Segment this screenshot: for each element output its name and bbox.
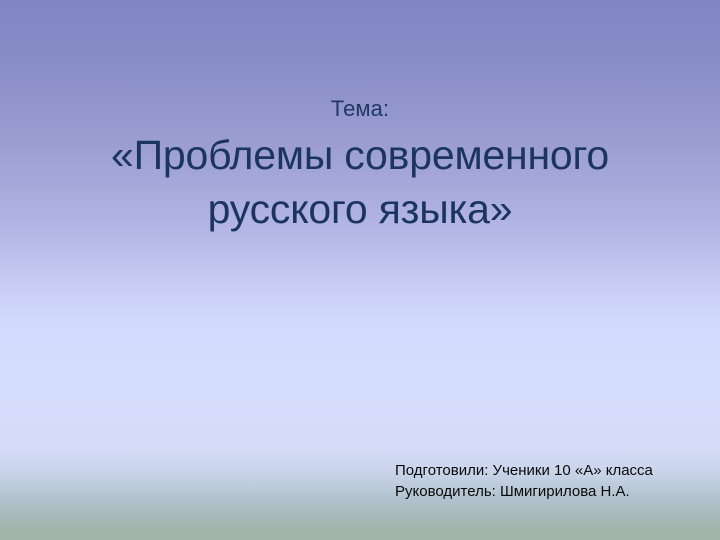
- credits-block: Подготовили: Ученики 10 «А» класса Руков…: [395, 460, 695, 503]
- title-line-1: «Проблемы современного: [111, 132, 609, 178]
- title-kicker: Тема:: [48, 96, 672, 122]
- title-slide: Тема: «Проблемы современного русского яз…: [0, 0, 720, 540]
- slide-title-block: Тема: «Проблемы современного русского яз…: [48, 96, 672, 236]
- page-title: «Проблемы современного русского языка»: [48, 128, 672, 236]
- title-line-2: русского языка»: [48, 182, 672, 236]
- credits-prepared-by: Подготовили: Ученики 10 «А» класса: [395, 460, 695, 481]
- credits-supervisor: Руководитель: Шмигирилова Н.А.: [395, 481, 695, 502]
